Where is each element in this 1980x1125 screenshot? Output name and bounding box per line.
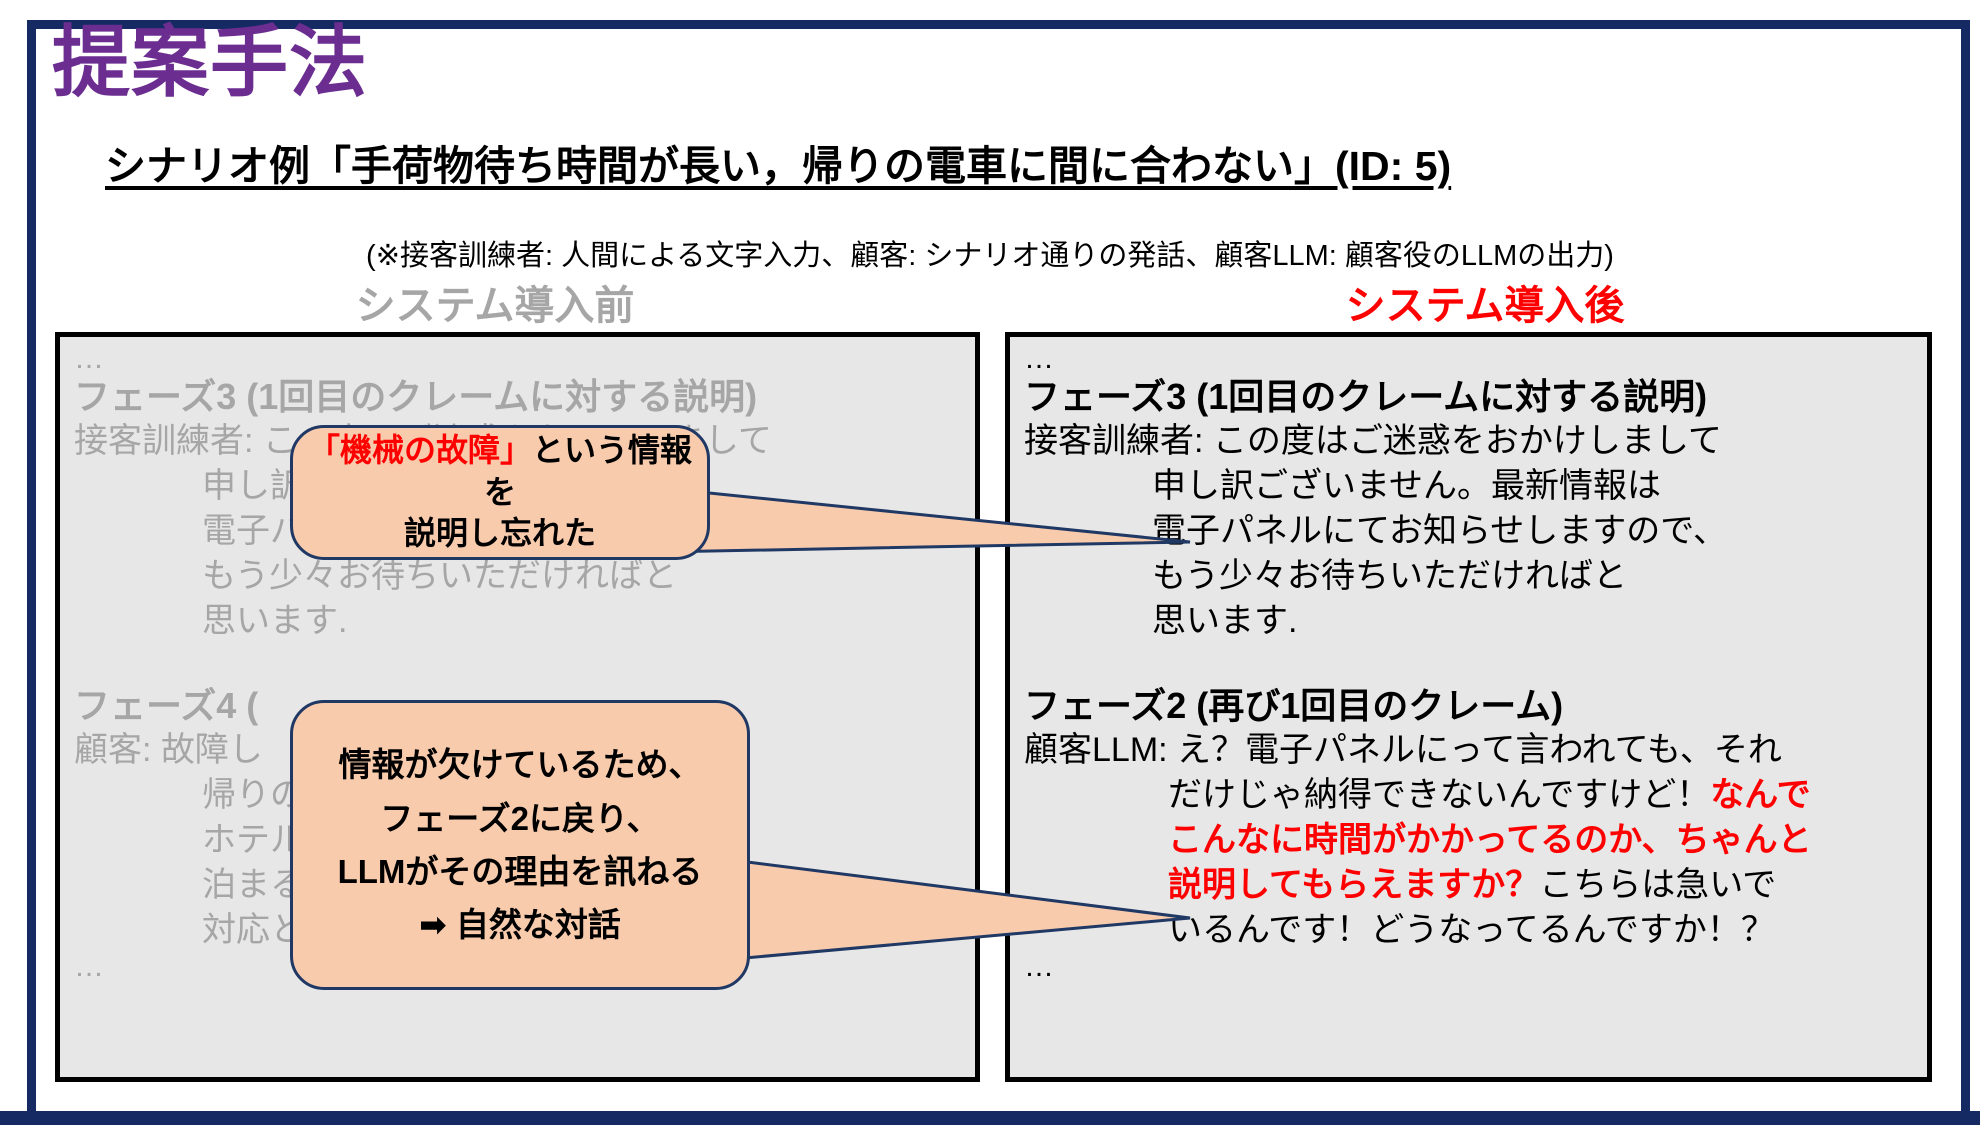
column-header-before: システム導入前 [0,273,990,331]
callout-bubble-missing-info: 「機械の故障」という情報を 説明し忘れた [290,425,710,560]
speaker-label: 接客訓練者: [74,422,253,460]
phase-heading: フェーズ2 (再び1回目のクレーム) [1024,683,1921,728]
block-spacer [74,643,969,683]
speaker-label: 接客訓練者: [1024,422,1203,460]
block-spacer [1024,643,1921,683]
leading-ellipsis: … [1024,345,1921,372]
leading-ellipsis: … [74,345,969,372]
callout-text: LLMがその理由を訊ねる [338,853,703,890]
scenario-subtitle: シナリオ例「手荷物待ち時間が長い，帰りの電車に間に合わない」(ID: 5) [105,132,1451,192]
utterance-line: 故障し [161,731,263,769]
slide-frame-left [27,20,36,1120]
utterance-line: 思います. [1024,599,1921,644]
callout-text: フェーズ2に戻り、 [380,800,659,837]
utterance-line: え？電子パネルにって言われても、それ [1177,731,1782,769]
highlight-text: なんで [1710,776,1810,814]
legend-note: (※接客訓練者: 人間による文字入力、顧客: シナリオ通りの発話、顧客LLM: … [0,232,1980,274]
slide-frame-bottom [0,1111,1980,1125]
callout-bubble-natural-dialogue: 情報が欠けているため、 フェーズ2に戻り、 LLMがその理由を訊ねる ➡ 自然な… [290,700,750,990]
utterance-line: 思います. [74,599,969,644]
callout-text: 情報が欠けているため、 [339,746,702,783]
highlight-text: 説明してもらえますか？ [1168,866,1539,904]
speaker-label: 顧客LLM: [1024,731,1168,769]
slide-frame-right [1961,20,1970,1120]
phase-heading: フェーズ3 (1回目のクレームに対する説明) [1024,374,1921,419]
callout-text: ➡ 自然な対話 [419,906,621,943]
utterance-text: こちらは急いで [1539,866,1776,904]
callout-tail-1 [660,480,1220,600]
speaker-label: 顧客: [74,731,151,769]
callout-highlight: 「機械の故障」 [308,432,532,468]
phase-heading: フェーズ3 (1回目のクレームに対する説明) [74,374,969,419]
page-title: 提案手法 [52,22,368,104]
utterance-text: だけじゃ納得できないんですけど！ [1168,776,1710,814]
column-header-after: システム導入後 [990,273,1980,331]
callout-text: 説明し忘れた [404,515,596,551]
slide: 提案手法 シナリオ例「手荷物待ち時間が長い，帰りの電車に間に合わない」(ID: … [0,0,1980,1125]
callout-tail-2 [700,850,1220,980]
utterance-line: だけじゃ納得できないんですけど！なんで [1024,773,1921,818]
utterance-line: この度はご迷惑をおかけしまして [1213,422,1722,460]
